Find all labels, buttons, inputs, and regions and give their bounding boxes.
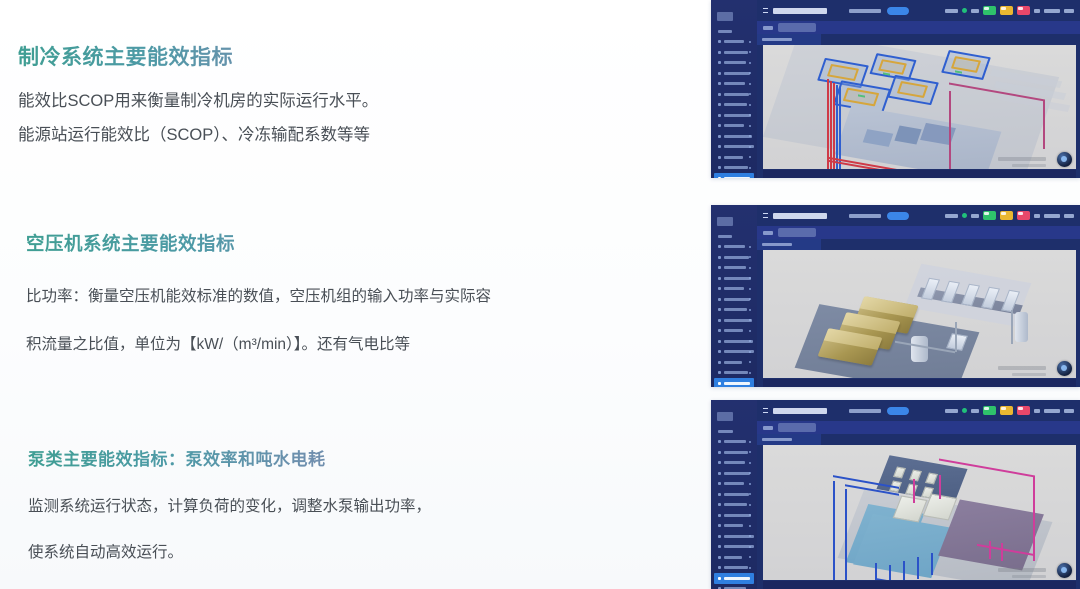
section-line-pump-1: 监测系统运行状态，计算负荷的变化，调整水泵输出功率， — [28, 484, 431, 530]
logout-label[interactable] — [1064, 409, 1074, 413]
section-air-compressor: 空压机系统主要能效指标 比功率：衡量空压机能效标准的数值，空压机组的输入功率与实… — [26, 231, 491, 369]
section-title-pump: 泵类主要能效指标：泵效率和吨水电耗 — [28, 448, 431, 472]
sidebar-item[interactable] — [714, 273, 754, 284]
sidebar-item-active[interactable] — [714, 573, 754, 584]
sidebar-item[interactable] — [714, 458, 754, 469]
sidebar-item[interactable] — [714, 368, 754, 379]
app-topbar — [757, 0, 1080, 21]
sidebar-item[interactable] — [714, 563, 754, 574]
app-bottombar — [763, 379, 1076, 387]
scene-3d-chiller-plant[interactable] — [763, 45, 1076, 169]
sidebar-item[interactable] — [714, 231, 754, 242]
section-line-air-compressor-2: 积流量之比值，单位为【kW/（m³/min）】。还有气电比等 — [26, 321, 491, 369]
breadcrumb-item[interactable] — [763, 231, 773, 235]
sidebar-item[interactable] — [714, 531, 754, 542]
topbar-status-group — [945, 6, 1074, 15]
sidebar-item[interactable] — [714, 315, 754, 326]
user-name-label[interactable] — [1044, 9, 1060, 13]
sidebar-item[interactable] — [714, 479, 754, 490]
scene-watermark — [998, 568, 1046, 572]
user-name-label[interactable] — [1044, 214, 1060, 218]
page-subtitle-strip — [757, 34, 821, 45]
section-title-refrigeration: 制冷系统主要能效指标 — [18, 44, 378, 72]
section-line-air-compressor-1: 比功率：衡量空压机能效标准的数值，空压机组的输入功率与实际容 — [26, 273, 491, 321]
sidebar-item[interactable] — [714, 58, 754, 69]
sidebar-item[interactable] — [714, 426, 754, 437]
sidebar-logo — [717, 412, 733, 421]
user-name-label[interactable] — [1044, 409, 1060, 413]
topbar-status-group — [945, 406, 1074, 415]
sidebar-item[interactable] — [714, 326, 754, 337]
sidebar-item[interactable] — [714, 89, 754, 100]
scene-watermark — [998, 366, 1046, 370]
breadcrumb-bar — [757, 226, 1080, 239]
topbar-action-pill[interactable] — [887, 407, 909, 415]
topbar-chip — [971, 409, 979, 413]
slide-root: 制冷系统主要能效指标 能效比SCOP用来衡量制冷机房的实际运行水平。 能源站运行… — [0, 0, 1080, 589]
status-online-icon — [962, 408, 967, 413]
app-brand-title — [773, 8, 827, 14]
logout-label[interactable] — [1064, 214, 1074, 218]
app-sidebar[interactable] — [711, 400, 757, 589]
sidebar-item[interactable] — [714, 468, 754, 479]
status-badge-green[interactable] — [983, 6, 996, 15]
section-title-air-compressor: 空压机系统主要能效指标 — [26, 231, 491, 257]
sidebar-item[interactable] — [714, 542, 754, 553]
topbar-chip — [1034, 214, 1040, 218]
app-brand-title — [773, 213, 827, 219]
screenshot-air-compressor-room[interactable] — [711, 205, 1080, 387]
status-badge-green[interactable] — [983, 211, 996, 220]
topbar-subtitle — [849, 9, 881, 13]
sidebar-item[interactable] — [714, 552, 754, 563]
sidebar-item[interactable] — [714, 305, 754, 316]
app-sidebar[interactable] — [711, 0, 757, 178]
sidebar-item[interactable] — [714, 263, 754, 274]
sidebar-item[interactable] — [714, 489, 754, 500]
sidebar-item[interactable] — [714, 447, 754, 458]
sidebar-item[interactable] — [714, 79, 754, 90]
status-badge-red[interactable] — [1017, 406, 1030, 415]
sidebar-item-active[interactable] — [714, 378, 754, 387]
sidebar-item[interactable] — [714, 347, 754, 358]
scene-3d-pump-station[interactable] — [763, 445, 1076, 580]
sidebar-item[interactable] — [714, 131, 754, 142]
sidebar-item[interactable] — [714, 47, 754, 58]
scene-help-fab[interactable] — [1057, 361, 1072, 376]
breadcrumb-item[interactable] — [763, 26, 773, 30]
topbar-subtitle — [849, 409, 881, 413]
status-badge-yellow[interactable] — [1000, 6, 1013, 15]
topbar-subtitle — [849, 214, 881, 218]
status-badge-green[interactable] — [983, 406, 996, 415]
breadcrumb-tab[interactable] — [778, 228, 816, 237]
breadcrumb-tab[interactable] — [778, 23, 816, 32]
breadcrumb-bar — [757, 421, 1080, 434]
app-topbar — [757, 400, 1080, 421]
scene-help-fab[interactable] — [1057, 563, 1072, 578]
topbar-chip — [1034, 409, 1040, 413]
breadcrumb-tab[interactable] — [778, 423, 816, 432]
text-column: 制冷系统主要能效指标 能效比SCOP用来衡量制冷机房的实际运行水平。 能源站运行… — [0, 0, 700, 589]
menu-icon[interactable] — [763, 408, 768, 413]
section-line-refrigeration-2: 能源站运行能效比（SCOP）、冷冻输配系数等等 — [18, 118, 378, 152]
screenshot-chiller-plant[interactable] — [711, 0, 1080, 178]
topbar-chip — [945, 214, 958, 218]
app-brand-title — [773, 408, 827, 414]
sidebar-item[interactable] — [714, 510, 754, 521]
app-bottombar — [763, 581, 1076, 589]
sidebar-item[interactable] — [714, 163, 754, 174]
scene-help-fab[interactable] — [1057, 152, 1072, 167]
sidebar-item[interactable] — [714, 242, 754, 253]
sidebar-item[interactable] — [714, 336, 754, 347]
sidebar-item[interactable] — [714, 294, 754, 305]
topbar-chip — [971, 214, 979, 218]
status-online-icon — [962, 8, 967, 13]
sidebar-item[interactable] — [714, 357, 754, 368]
topbar-chip — [971, 9, 979, 13]
scene-watermark-sub — [1012, 373, 1046, 376]
status-badge-yellow[interactable] — [1000, 211, 1013, 220]
section-line-refrigeration-1: 能效比SCOP用来衡量制冷机房的实际运行水平。 — [18, 84, 378, 118]
sidebar-item-active[interactable] — [714, 173, 754, 178]
sidebar-item[interactable] — [714, 100, 754, 111]
page-subtitle-strip — [757, 239, 821, 250]
sidebar-item[interactable] — [714, 37, 754, 48]
scene-watermark — [998, 157, 1046, 161]
topbar-chip — [1034, 9, 1040, 13]
breadcrumb-item[interactable] — [763, 426, 773, 430]
app-bottombar — [763, 170, 1076, 178]
sidebar-item[interactable] — [714, 68, 754, 79]
status-badge-yellow[interactable] — [1000, 406, 1013, 415]
sidebar-item[interactable] — [714, 26, 754, 37]
topbar-chip — [945, 409, 958, 413]
status-badge-red[interactable] — [1017, 6, 1030, 15]
section-line-pump-2: 使系统自动高效运行。 — [28, 530, 431, 576]
sidebar-item[interactable] — [714, 121, 754, 132]
logout-label[interactable] — [1064, 9, 1074, 13]
sidebar-item[interactable] — [714, 142, 754, 153]
status-online-icon — [962, 213, 967, 218]
sidebar-item[interactable] — [714, 152, 754, 163]
page-subtitle-strip — [757, 434, 821, 445]
sidebar-logo — [717, 12, 733, 21]
topbar-action-pill[interactable] — [887, 212, 909, 220]
status-badge-red[interactable] — [1017, 211, 1030, 220]
sidebar-item[interactable] — [714, 437, 754, 448]
app-topbar — [757, 205, 1080, 226]
sidebar-item[interactable] — [714, 521, 754, 532]
menu-icon[interactable] — [763, 213, 768, 218]
scene-3d-air-compressor-room[interactable] — [763, 250, 1076, 378]
section-refrigeration: 制冷系统主要能效指标 能效比SCOP用来衡量制冷机房的实际运行水平。 能源站运行… — [18, 44, 378, 152]
sidebar-item[interactable] — [714, 500, 754, 511]
sidebar-item[interactable] — [714, 110, 754, 121]
menu-icon[interactable] — [763, 8, 768, 13]
topbar-action-pill[interactable] — [887, 7, 909, 15]
topbar-chip — [945, 9, 958, 13]
scene-watermark-sub — [1012, 164, 1046, 167]
app-sidebar[interactable] — [711, 205, 757, 387]
breadcrumb-bar — [757, 21, 1080, 34]
scene-watermark-sub — [1012, 575, 1046, 578]
sidebar-item[interactable] — [714, 584, 754, 589]
sidebar-item[interactable] — [714, 252, 754, 263]
topbar-status-group — [945, 211, 1074, 220]
screenshot-pump-station[interactable] — [711, 400, 1080, 589]
sidebar-logo — [717, 217, 733, 226]
section-pump: 泵类主要能效指标：泵效率和吨水电耗 监测系统运行状态，计算负荷的变化，调整水泵输… — [28, 448, 431, 576]
sidebar-item[interactable] — [714, 284, 754, 295]
